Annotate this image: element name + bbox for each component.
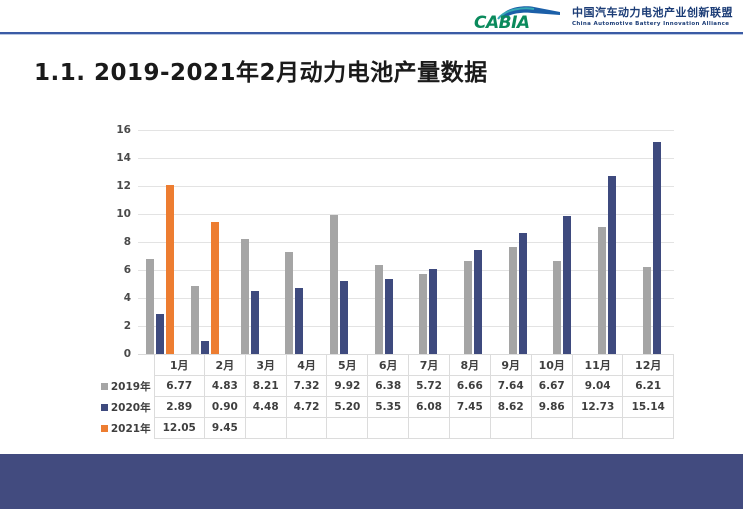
table-row: 2019年6.774.838.217.329.926.385.726.667.6… [98, 376, 674, 397]
bar-group [138, 130, 183, 354]
cell-2020年-8月: 7.45 [449, 397, 490, 418]
bar-2021年-1月 [166, 185, 174, 354]
cell-2019年-12月: 6.21 [623, 376, 674, 397]
column-header-11月: 11月 [572, 355, 622, 376]
column-header-6月: 6月 [368, 355, 409, 376]
cell-2020年-7月: 6.08 [409, 397, 450, 418]
bar-group [317, 130, 362, 354]
cell-2019年-7月: 5.72 [409, 376, 450, 397]
column-header-7月: 7月 [409, 355, 450, 376]
legend-label: 2021年 [111, 423, 151, 435]
cell-2020年-1月: 2.89 [154, 397, 204, 418]
cell-2021年-3月 [245, 418, 286, 439]
bar-group [495, 130, 540, 354]
cell-2019年-5月: 9.92 [327, 376, 368, 397]
header-divider-secondary [0, 34, 743, 35]
slide-header: CABIA 中国汽车动力电池产业创新联盟 China Automotive Ba… [0, 0, 743, 34]
cell-2021年-11月 [572, 418, 622, 439]
bar-2019年-10月 [553, 261, 561, 354]
bar-2019年-7月 [419, 274, 427, 354]
brand-name-en: China Automotive Battery Innovation Alli… [572, 20, 733, 28]
chart-column-7月 [406, 130, 451, 354]
bar-2020年-8月 [474, 250, 482, 354]
bar-2020年-2月 [201, 341, 209, 354]
bar-group [451, 130, 496, 354]
bar-2019年-6月 [375, 265, 383, 354]
bar-2019年-9月 [509, 247, 517, 354]
bar-group [629, 130, 674, 354]
cabia-logo-icon: CABIA [472, 4, 564, 30]
cell-2019年-1月: 6.77 [154, 376, 204, 397]
cell-2021年-2月: 9.45 [204, 418, 245, 439]
bar-2019年-2月 [191, 286, 199, 354]
bar-group [227, 130, 272, 354]
y-axis-tick-6: 6 [124, 264, 131, 276]
chart-column-9月 [495, 130, 540, 354]
cell-2019年-8月: 6.66 [449, 376, 490, 397]
bar-2020年-6月 [385, 279, 393, 354]
chart-column-3月 [227, 130, 272, 354]
y-axis-tick-2: 2 [124, 320, 131, 332]
y-axis-tick-8: 8 [124, 236, 131, 248]
legend-swatch-icon [101, 425, 108, 432]
cell-2019年-9月: 7.64 [490, 376, 531, 397]
column-header-5月: 5月 [327, 355, 368, 376]
column-header-10月: 10月 [531, 355, 572, 376]
table-row: 2021年12.059.45 [98, 418, 674, 439]
bar-2020年-5月 [340, 281, 348, 354]
chart-data-table: 1月2月3月4月5月6月7月8月9月10月11月12月2019年6.774.83… [98, 354, 674, 439]
chart-column-12月 [629, 130, 674, 354]
table-header-row: 1月2月3月4月5月6月7月8月9月10月11月12月 [98, 355, 674, 376]
cell-2021年-1月: 12.05 [154, 418, 204, 439]
brand-logo-block: CABIA 中国汽车动力电池产业创新联盟 China Automotive Ba… [472, 4, 733, 30]
bar-group [272, 130, 317, 354]
cell-2020年-6月: 5.35 [368, 397, 409, 418]
page-title: 1.1. 2019-2021年2月动力电池产量数据 [34, 53, 488, 87]
cell-2021年-5月 [327, 418, 368, 439]
cell-2019年-2月: 4.83 [204, 376, 245, 397]
bar-2019年-12月 [643, 267, 651, 354]
y-axis-tick-10: 10 [116, 208, 131, 220]
column-header-12月: 12月 [623, 355, 674, 376]
chart-column-5月 [317, 130, 362, 354]
brand-name-zh: 中国汽车动力电池产业创新联盟 [572, 7, 733, 19]
bar-2020年-1月 [156, 314, 164, 354]
cell-2020年-9月: 8.62 [490, 397, 531, 418]
cell-2021年-10月 [531, 418, 572, 439]
chart-column-10月 [540, 130, 585, 354]
bar-group [361, 130, 406, 354]
bar-2020年-7月 [429, 269, 437, 354]
chart-column-11月 [585, 130, 630, 354]
y-axis-tick-4: 4 [124, 292, 131, 304]
y-axis-tick-16: 16 [116, 124, 131, 136]
bar-2021年-2月 [211, 222, 219, 354]
bar-group [406, 130, 451, 354]
cell-2020年-12月: 15.14 [623, 397, 674, 418]
cell-2021年-8月 [449, 418, 490, 439]
bar-2020年-9月 [519, 233, 527, 354]
footer-band [0, 454, 743, 509]
chart-column-8月 [451, 130, 496, 354]
bar-2020年-3月 [251, 291, 259, 354]
chart-column-6月 [361, 130, 406, 354]
cell-2021年-12月 [623, 418, 674, 439]
cell-2020年-10月: 9.86 [531, 397, 572, 418]
legend-label: 2019年 [111, 381, 151, 393]
chart-column-1月 [138, 130, 183, 354]
cell-2020年-2月: 0.90 [204, 397, 245, 418]
cell-2019年-6月: 6.38 [368, 376, 409, 397]
bar-2019年-11月 [598, 227, 606, 354]
cell-2020年-4月: 4.72 [286, 397, 327, 418]
column-header-1月: 1月 [154, 355, 204, 376]
column-header-8月: 8月 [449, 355, 490, 376]
cell-2021年-9月 [490, 418, 531, 439]
column-header-3月: 3月 [245, 355, 286, 376]
bar-group [585, 130, 630, 354]
chart-column-4月 [272, 130, 317, 354]
table-row: 2020年2.890.904.484.725.205.356.087.458.6… [98, 397, 674, 418]
table-corner-cell [98, 355, 154, 376]
bar-group [183, 130, 228, 354]
cell-2019年-4月: 7.32 [286, 376, 327, 397]
bar-2020年-4月 [295, 288, 303, 354]
cell-2021年-4月 [286, 418, 327, 439]
column-header-4月: 4月 [286, 355, 327, 376]
legend-swatch-icon [101, 383, 108, 390]
legend-label: 2020年 [111, 402, 151, 414]
cell-2019年-3月: 8.21 [245, 376, 286, 397]
bar-2019年-5月 [330, 215, 338, 354]
legend-item-2021年: 2021年 [98, 418, 154, 439]
cell-2021年-6月 [368, 418, 409, 439]
bar-2019年-3月 [241, 239, 249, 354]
legend-item-2020年: 2020年 [98, 397, 154, 418]
legend-item-2019年: 2019年 [98, 376, 154, 397]
column-header-9月: 9月 [490, 355, 531, 376]
legend-swatch-icon [101, 404, 108, 411]
cell-2019年-11月: 9.04 [572, 376, 622, 397]
bar-2020年-12月 [653, 142, 661, 354]
bar-group [540, 130, 585, 354]
cell-2020年-5月: 5.20 [327, 397, 368, 418]
bar-2020年-10月 [563, 216, 571, 354]
chart-column-2月 [183, 130, 228, 354]
bar-2019年-4月 [285, 252, 293, 354]
svg-text:CABIA: CABIA [474, 13, 530, 30]
bar-2019年-8月 [464, 261, 472, 354]
bar-2020年-11月 [608, 176, 616, 354]
cell-2019年-10月: 6.67 [531, 376, 572, 397]
column-header-2月: 2月 [204, 355, 245, 376]
chart-category-columns [138, 130, 674, 354]
cell-2021年-7月 [409, 418, 450, 439]
y-axis-tick-12: 12 [116, 180, 131, 192]
cell-2020年-3月: 4.48 [245, 397, 286, 418]
cell-2020年-11月: 12.73 [572, 397, 622, 418]
bar-2019年-1月 [146, 259, 154, 354]
y-axis-tick-14: 14 [116, 152, 131, 164]
chart-plot-area: 0246810121416 [138, 130, 674, 354]
